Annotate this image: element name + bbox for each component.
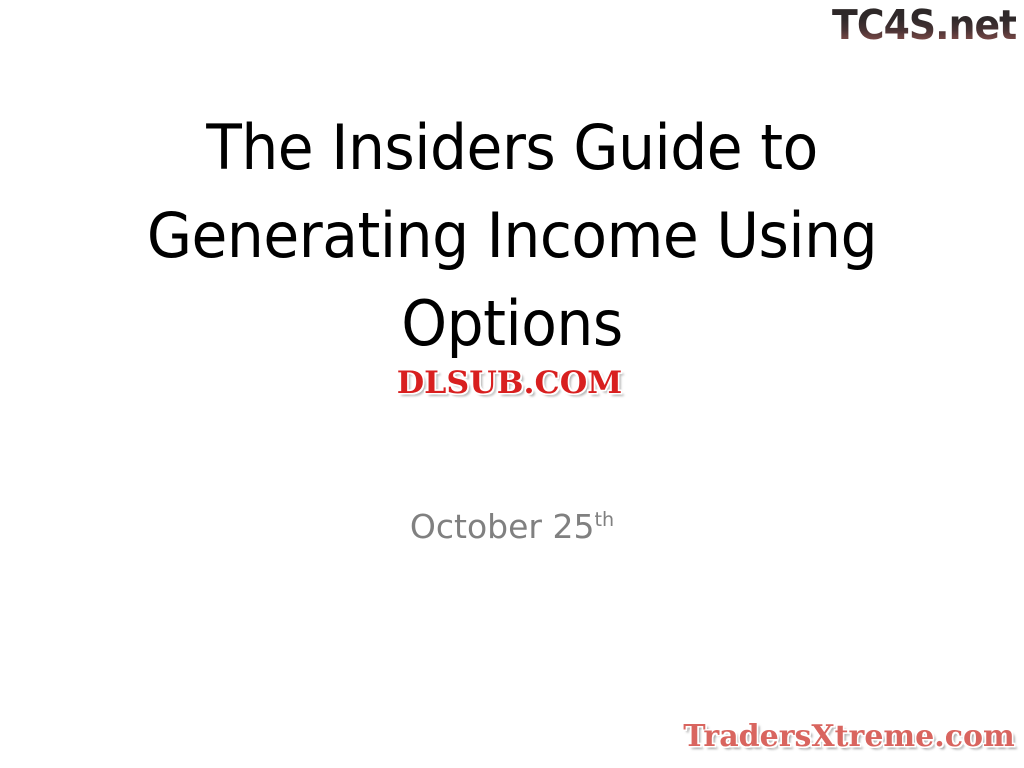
presentation-slide: TC4S.net The Insiders Guide to Generatin… bbox=[0, 0, 1024, 768]
dlsub-watermark-logo: DLSUB.COM bbox=[360, 364, 659, 402]
title-line-1: The Insiders Guide to bbox=[31, 104, 994, 192]
title-line-2: Generating Income Using bbox=[31, 192, 994, 280]
slide-title: The Insiders Guide to Generating Income … bbox=[0, 104, 1024, 368]
subtitle-ordinal-suffix: th bbox=[594, 508, 614, 531]
title-line-3: Options bbox=[31, 280, 994, 368]
tc4s-watermark-logo: TC4S.net bbox=[832, 2, 1016, 48]
tradersxtreme-watermark-logo: TradersXtreme.com bbox=[684, 716, 1014, 758]
slide-subtitle: October 25th bbox=[0, 505, 1024, 549]
subtitle-date: October 25 bbox=[410, 507, 595, 546]
